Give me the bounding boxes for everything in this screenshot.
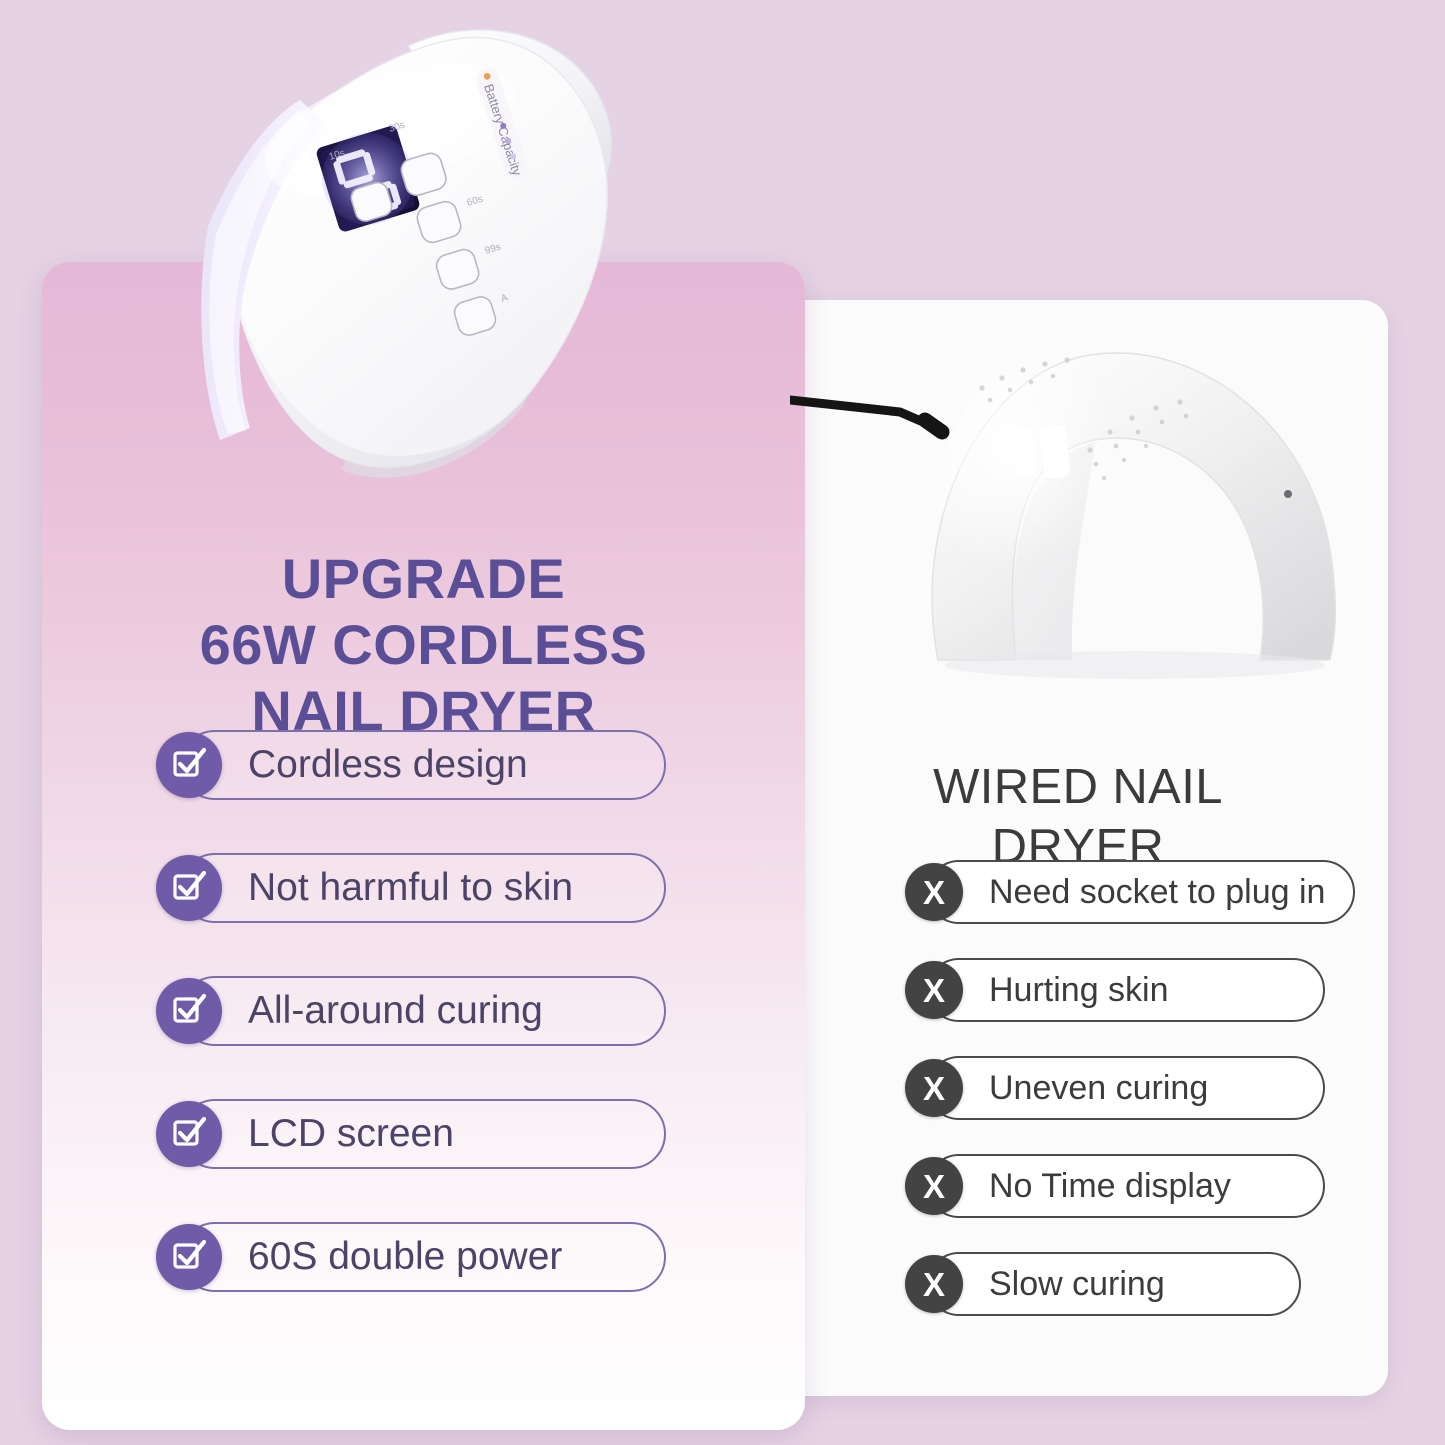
list-item[interactable]: X Uneven curing: [905, 1056, 1355, 1120]
x-icon: X: [905, 1157, 963, 1215]
cordless-battery-label: Battery Capacity: [0, 0, 1, 1]
cordless-lcd-value: 60: [0, 0, 1, 1]
drawback-label: Slow curing: [989, 1265, 1165, 1304]
check-icon: [156, 1101, 222, 1167]
feature-label: Cordless design: [248, 743, 528, 787]
comparison-infographic: WIRED NAIL DRYER X Need socket to plug i…: [0, 0, 1445, 1445]
check-icon: [156, 1224, 222, 1290]
list-item[interactable]: Not harmful to skin: [156, 853, 666, 923]
x-icon: X: [905, 1059, 963, 1117]
list-item[interactable]: LCD screen: [156, 1099, 666, 1169]
feature-label: Not harmful to skin: [248, 866, 573, 910]
check-icon: [156, 855, 222, 921]
x-icon: X: [905, 961, 963, 1019]
feature-label: LCD screen: [248, 1112, 454, 1156]
list-item[interactable]: X Slow curing: [905, 1252, 1355, 1316]
page-title: UPGRADE 66W CORDLESS NAIL DRYER: [42, 546, 805, 743]
cordless-features-list: Cordless design Not harmful to skin All-…: [156, 730, 666, 1345]
check-icon: [156, 732, 222, 798]
feature-label: 60S double power: [248, 1235, 562, 1279]
x-icon: X: [905, 863, 963, 921]
drawback-label: Uneven curing: [989, 1069, 1208, 1108]
wired-nail-dryer-image: [790, 300, 1365, 700]
drawback-label: Need socket to plug in: [989, 873, 1325, 912]
drawback-label: No Time display: [989, 1167, 1231, 1206]
drawback-label: Hurting skin: [989, 971, 1169, 1010]
x-icon: X: [905, 1255, 963, 1313]
list-item[interactable]: 60S double power: [156, 1222, 666, 1292]
list-item[interactable]: Cordless design: [156, 730, 666, 800]
wired-drawbacks-list: X Need socket to plug in X Hurting skin …: [905, 860, 1355, 1350]
check-icon: [156, 978, 222, 1044]
list-item[interactable]: X Need socket to plug in: [905, 860, 1355, 924]
list-item[interactable]: X No Time display: [905, 1154, 1355, 1218]
list-item[interactable]: All-around curing: [156, 976, 666, 1046]
cordless-nail-dryer-image: 10s 30s 60s 99s A Battery Capacity: [150, 10, 660, 500]
feature-label: All-around curing: [248, 989, 543, 1033]
list-item[interactable]: X Hurting skin: [905, 958, 1355, 1022]
